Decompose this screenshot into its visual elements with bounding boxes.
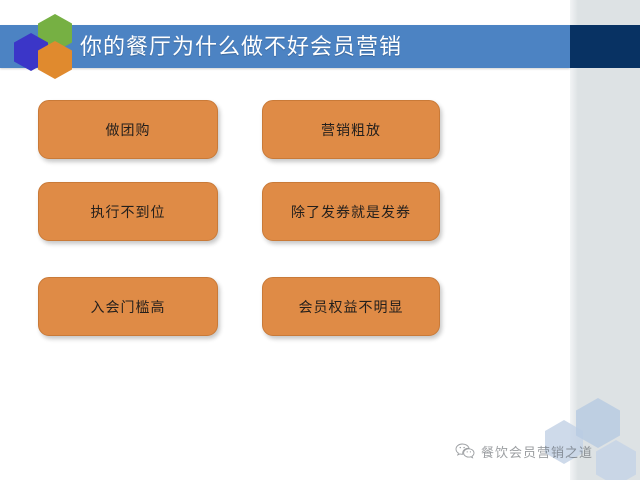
reason-button-label: 做团购 — [106, 120, 151, 140]
reason-button-label: 除了发券就是发券 — [291, 202, 411, 222]
wechat-icon — [455, 443, 475, 460]
page-title: 你的餐厅为什么做不好会员营销 — [80, 25, 402, 68]
title-bar-accent — [570, 25, 640, 68]
slide-canvas: 你的餐厅为什么做不好会员营销 做团购 营销粗放 执行不到位 除了发券就是发券 — [0, 0, 640, 480]
reason-button-label: 执行不到位 — [91, 202, 166, 222]
reason-button-label: 营销粗放 — [321, 120, 381, 140]
button-row: 入会门槛高 会员权益不明显 — [0, 277, 570, 359]
reason-button[interactable]: 营销粗放 — [262, 100, 440, 159]
button-row: 执行不到位 除了发券就是发券 — [0, 182, 570, 277]
right-sidebar-edge-fade — [570, 0, 578, 480]
reason-button-label: 入会门槛高 — [91, 297, 166, 317]
footer-watermark-label: 餐饮会员营销之道 — [481, 442, 593, 461]
reason-button[interactable]: 会员权益不明显 — [262, 277, 440, 336]
title-bar: 你的餐厅为什么做不好会员营销 — [0, 25, 640, 68]
reason-button[interactable]: 除了发券就是发券 — [262, 182, 440, 241]
reason-button[interactable]: 入会门槛高 — [38, 277, 218, 336]
reason-button[interactable]: 做团购 — [38, 100, 218, 159]
hexagon-logo — [10, 12, 84, 82]
footer-watermark: 餐饮会员营销之道 — [455, 440, 593, 462]
reason-button[interactable]: 执行不到位 — [38, 182, 218, 241]
reason-button-grid: 做团购 营销粗放 执行不到位 除了发券就是发券 入会门槛高 会员权益不明显 — [0, 100, 570, 359]
button-row: 做团购 营销粗放 — [0, 100, 570, 182]
reason-button-label: 会员权益不明显 — [299, 297, 404, 317]
